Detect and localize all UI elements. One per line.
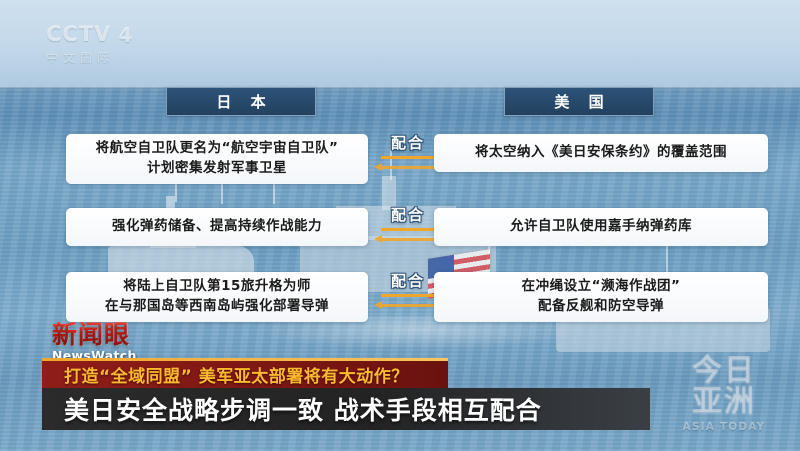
info-box-right-2-line1: 允许自卫队使用嘉手纳弹药库: [510, 217, 692, 237]
column-header-usa: 美 国: [504, 87, 654, 116]
arrow-left-icon: [374, 236, 442, 243]
info-box-right-2: 允许自卫队使用嘉手纳弹药库: [434, 208, 768, 246]
arrow-right-icon: [374, 226, 442, 233]
info-box-left-3: 将陆上自卫队第15旅升格为师 在与那国岛等西南岛屿强化部署导弹: [66, 272, 368, 322]
info-box-right-3-line2: 配备反舰和防空导弹: [522, 297, 681, 317]
info-box-left-2-line1: 强化弹药储备、提高持续作战能力: [112, 217, 322, 237]
corner-bug-cn-line2: 亚洲: [668, 387, 780, 418]
info-box-left-3-line2: 在与那国岛等西南岛屿强化部署导弹: [105, 297, 329, 317]
arrow-right-icon: [374, 292, 442, 299]
horizon-line: [0, 86, 800, 89]
channel-subtitle: 中文国际: [46, 49, 186, 66]
info-box-left-1-line2: 计划密集发射军事卫星: [96, 159, 339, 179]
corner-bug-en: ASIA TODAY: [668, 421, 780, 433]
info-box-left-3-line1: 将陆上自卫队第15旅升格为师: [105, 277, 329, 297]
info-box-left-2: 强化弹药储备、提高持续作战能力: [66, 208, 368, 246]
column-header-japan: 日 本: [166, 87, 316, 116]
info-box-left-1: 将航空自卫队更名为“航空宇宙自卫队” 计划密集发射军事卫星: [66, 134, 368, 184]
corner-bug-cn-line1: 今日: [668, 356, 780, 387]
corner-bug: 今日 亚洲 ASIA TODAY: [668, 356, 780, 440]
info-box-right-3-line1: 在冲绳设立“濒海作战团”: [522, 277, 681, 297]
info-box-right-1-line1: 将太空纳入《美日安保条约》的覆盖范围: [475, 143, 727, 163]
column-header-usa-label: 美 国: [547, 91, 610, 112]
arrow-right-icon: [374, 154, 442, 161]
info-box-right-3: 在冲绳设立“濒海作战团” 配备反舰和防空导弹: [434, 272, 768, 322]
info-box-right-1: 将太空纳入《美日安保条约》的覆盖范围: [434, 134, 768, 172]
program-logo-cn: 新闻眼: [52, 322, 176, 347]
channel-name: CCTV: [46, 24, 111, 45]
channel-number: 4: [118, 25, 133, 45]
arrow-left-icon: [374, 302, 442, 309]
info-box-left-1-line1: 将航空自卫队更名为“航空宇宙自卫队”: [96, 139, 339, 159]
channel-watermark: CCTV 4 中文国际: [46, 24, 186, 66]
arrow-left-icon: [374, 164, 442, 171]
headline-bar: 打造“全域同盟” 美军亚太部署将有大动作？: [42, 361, 448, 388]
column-header-japan-label: 日 本: [209, 91, 272, 112]
broadcast-screen: CCTV 4 中文国际 日 本 美 国 将航空自卫队更名为“航空宇宙自卫队” 计…: [0, 0, 800, 451]
subtitle-bar: 美日安全战略步调一致 战术手段相互配合: [42, 388, 650, 430]
headline-text: 打造“全域同盟” 美军亚太部署将有大动作？: [42, 362, 409, 387]
subtitle-text: 美日安全战略步调一致 战术手段相互配合: [42, 391, 542, 427]
